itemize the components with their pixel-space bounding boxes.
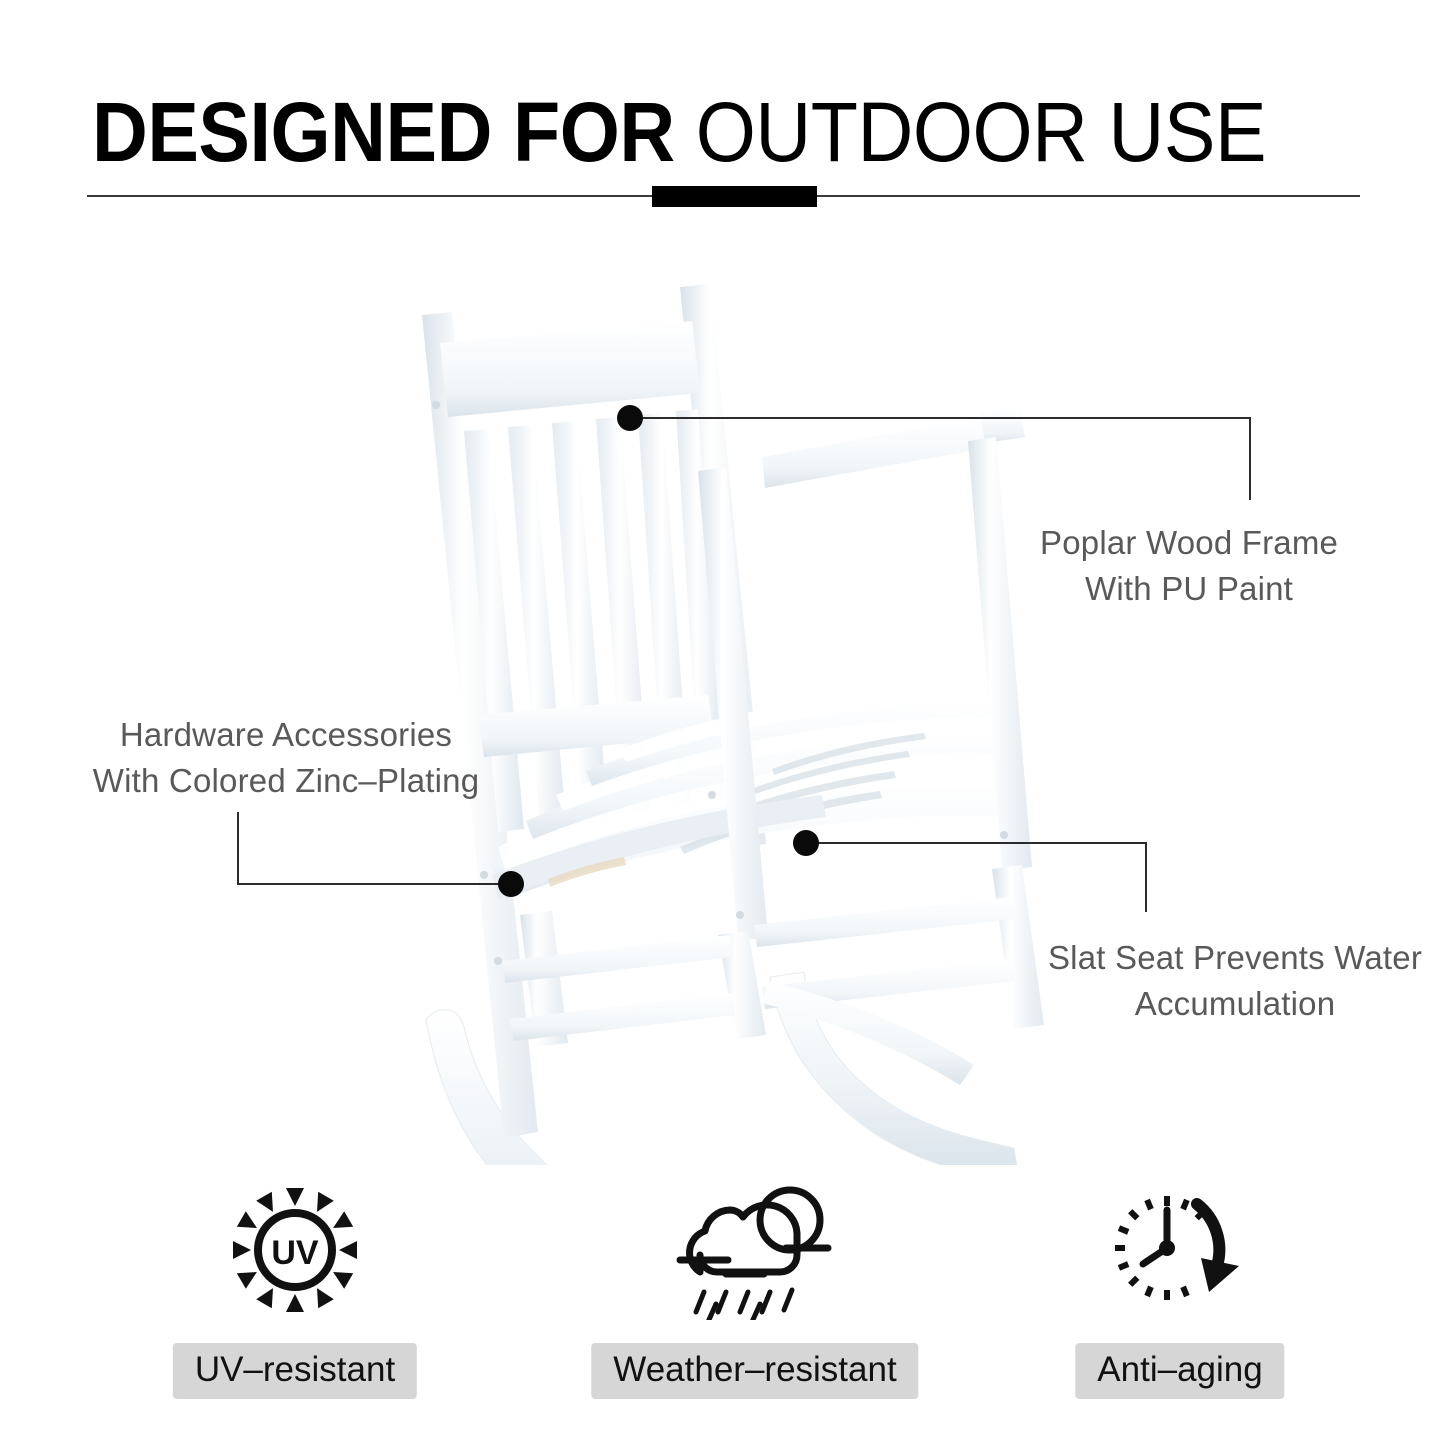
- armrest-front-nub: [980, 407, 1025, 443]
- callout-poplar-wood-frame: Poplar Wood Frame With PU Paint: [1040, 520, 1338, 612]
- callout-hardware-accessories: Hardware Accessories With Colored Zinc–P…: [86, 712, 486, 804]
- title-strong: DESIGNED FOR: [92, 85, 675, 179]
- feature-strip: UV UV–resistant: [0, 1180, 1445, 1445]
- callout-slat-line-1: Slat Seat Prevents Water: [1035, 935, 1435, 981]
- title-light-spacer: [675, 85, 696, 179]
- callout-hardware-line-2: With Colored Zinc–Plating: [86, 758, 486, 804]
- feature-anti-aging: Anti–aging: [1010, 1180, 1350, 1430]
- callout-poplar-line-2: With PU Paint: [1040, 566, 1338, 612]
- callout-poplar-line-1: Poplar Wood Frame: [1040, 520, 1338, 566]
- svg-text:UV: UV: [271, 1234, 319, 1272]
- stretcher-lower-right: [754, 897, 1015, 947]
- back-top-rail: [440, 321, 700, 417]
- callout-hardware-line-1: Hardware Accessories: [86, 712, 486, 758]
- feature-label-weather-resistant: Weather–resistant: [591, 1343, 918, 1399]
- title-divider: [0, 190, 1445, 212]
- header: DESIGNED FOR OUTDOOR USE: [0, 0, 1445, 230]
- feature-uv-resistant: UV UV–resistant: [125, 1180, 465, 1430]
- feature-weather-resistant: Weather–resistant: [585, 1180, 925, 1430]
- armrest-top: [762, 416, 999, 488]
- divider-accent-block: [652, 186, 817, 207]
- feature-label-uv-resistant: UV–resistant: [173, 1343, 417, 1399]
- title-light: OUTDOOR USE: [696, 85, 1266, 179]
- callout-slat-seat: Slat Seat Prevents Water Accumulation: [1035, 935, 1435, 1027]
- rocking-chair-illustration: [380, 275, 1100, 1165]
- clock-arrow-icon: [1010, 1180, 1350, 1320]
- page-title: DESIGNED FOR OUTDOOR USE: [92, 86, 1270, 178]
- cloud-rain-sun-icon: [585, 1180, 925, 1320]
- chair-stretchers: [502, 897, 1015, 1085]
- uv-sun-icon: UV: [125, 1180, 465, 1320]
- feature-label-anti-aging: Anti–aging: [1075, 1343, 1284, 1399]
- callout-slat-line-2: Accumulation: [1035, 981, 1435, 1027]
